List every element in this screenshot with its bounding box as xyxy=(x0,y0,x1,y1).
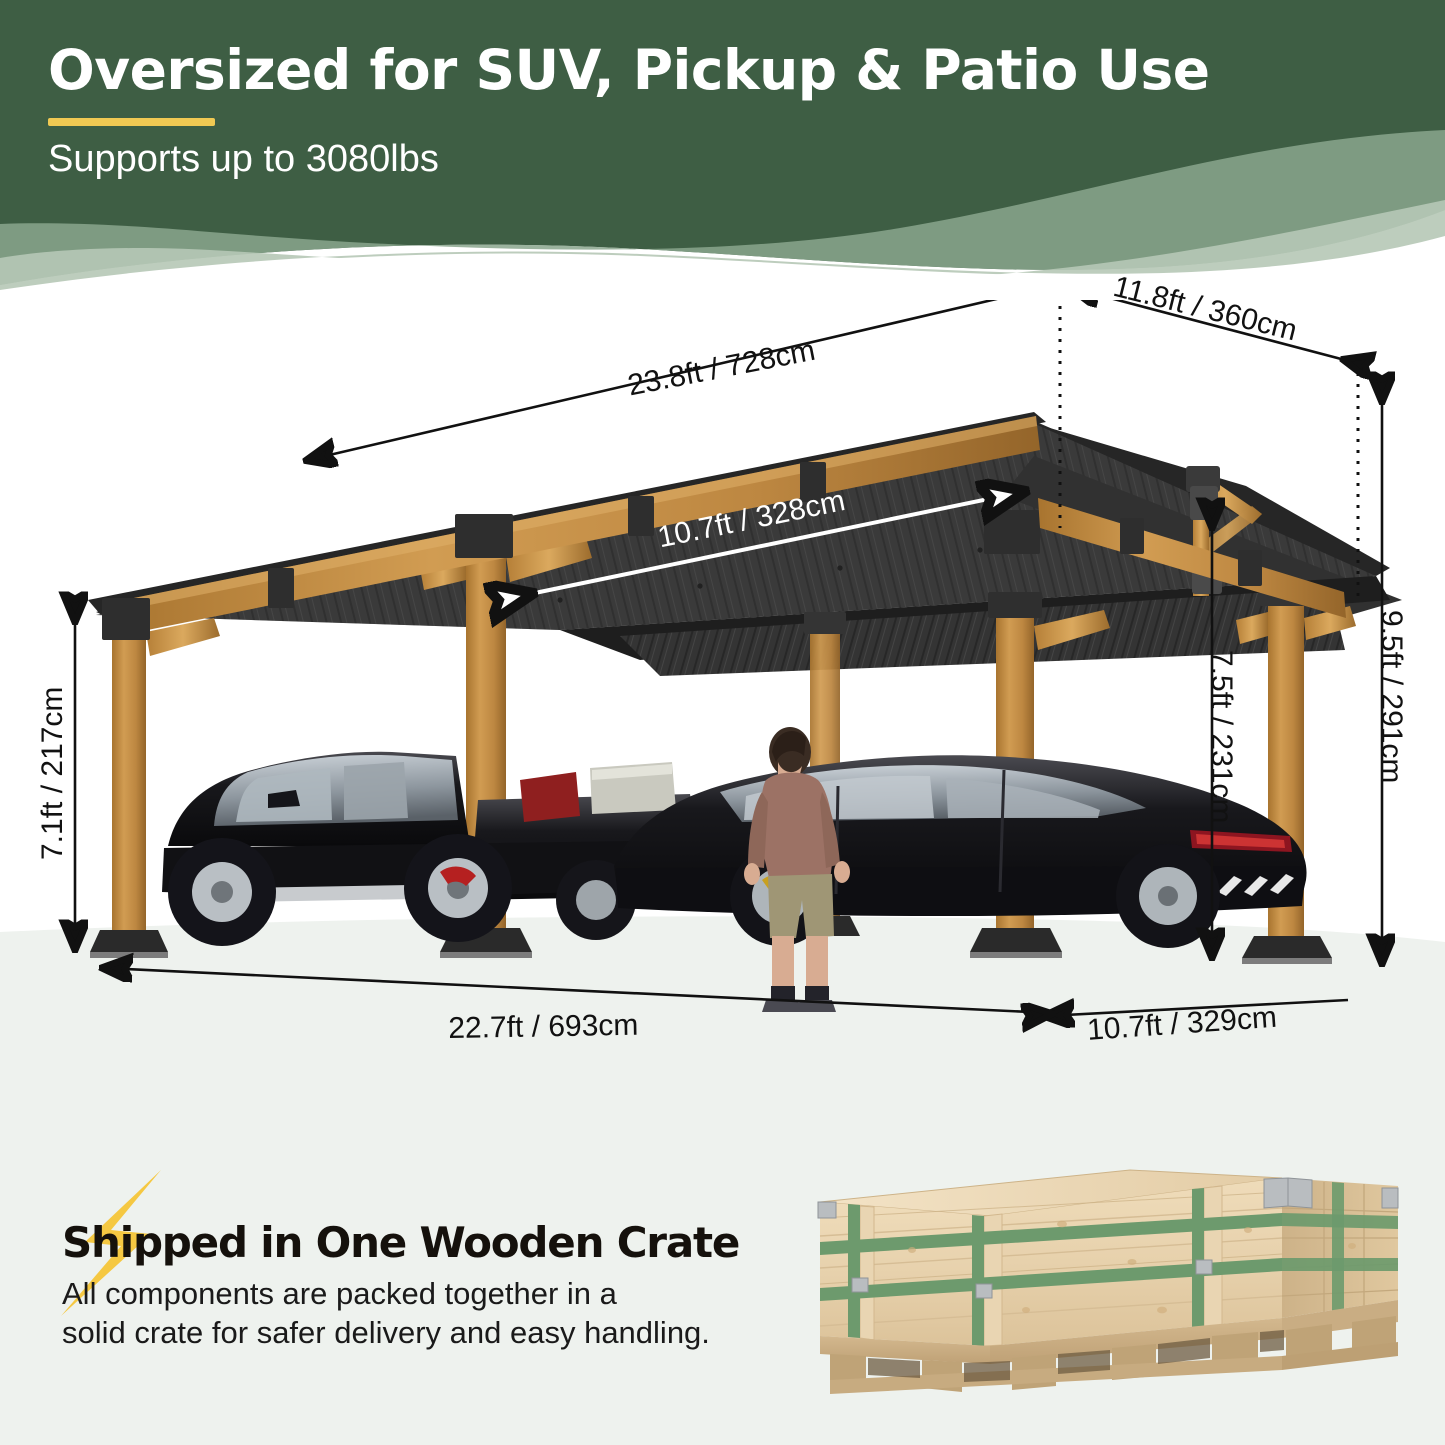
header-banner: Oversized for SUV, Pickup & Patio Use Su… xyxy=(0,0,1445,300)
wooden-crate-image xyxy=(812,1150,1412,1440)
infographic-page: Oversized for SUV, Pickup & Patio Use Su… xyxy=(0,0,1445,1445)
dimension-label-height-peak: 9.5ft / 291cm xyxy=(1374,610,1408,783)
banner-accent-rule xyxy=(48,118,215,126)
banner-title: Oversized for SUV, Pickup & Patio Use xyxy=(48,38,1210,102)
dimension-label-height-left: 7.1ft / 217cm xyxy=(36,687,70,860)
dimension-label-height-eave: 7.5ft / 231cm xyxy=(1204,650,1238,823)
carport-diagram: 11.8ft / 360cm 23.8ft / 728cm 10.7ft / 3… xyxy=(0,300,1445,1100)
banner-subtitle: Supports up to 3080lbs xyxy=(48,138,439,181)
shipping-description-line-2: solid crate for safer delivery and easy … xyxy=(62,1313,802,1352)
shipping-description: All components are packed together in a … xyxy=(62,1274,802,1352)
shipping-heading: Shipped in One Wooden Crate xyxy=(62,1218,739,1267)
vehicle-pickup-truck xyxy=(162,752,704,946)
shipping-description-line-1: All components are packed together in a xyxy=(62,1274,802,1313)
dimension-label-width-base: 22.7ft / 693cm xyxy=(448,1009,639,1046)
